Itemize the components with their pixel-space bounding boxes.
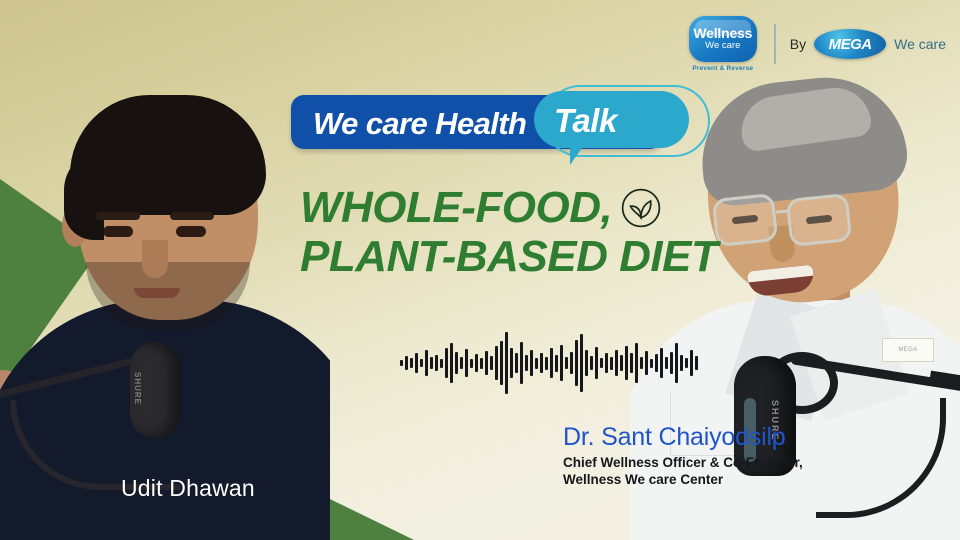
badge-label: MEGA: [883, 347, 933, 353]
episode-headline: WHOLE-FOOD, PLANT-BASED DIET: [300, 183, 717, 282]
waveform-bar: [640, 357, 643, 369]
waveform-bar: [440, 359, 443, 368]
waveform-bar: [465, 349, 468, 377]
waveform-bar: [635, 343, 638, 383]
show-title-banner: We care Health Talk: [291, 91, 705, 152]
wellness-shield-icon: Wellness We care: [689, 16, 757, 62]
waveform-bar: [490, 356, 493, 370]
waveform-bar: [625, 346, 628, 380]
waveform-bar: [530, 350, 533, 376]
left-speaker-eye-right: [176, 226, 206, 237]
waveform-bar: [415, 353, 418, 373]
waveform-bar: [695, 356, 698, 370]
waveform-bar: [455, 352, 458, 374]
waveform-bar: [405, 356, 408, 370]
left-speaker-mouth: [134, 288, 180, 298]
waveform-bar: [475, 354, 478, 372]
waveform-bar: [610, 357, 613, 370]
waveform-bar: [580, 334, 583, 392]
waveform-bar: [605, 353, 608, 373]
headline-line-2: PLANT-BASED DIET: [300, 232, 717, 281]
waveform-bar: [655, 354, 658, 372]
waveform-bar: [545, 357, 548, 370]
waveform-bar: [500, 341, 503, 385]
waveform-bar: [445, 348, 448, 378]
waveform-bar: [595, 347, 598, 379]
waveform-bar: [410, 358, 413, 368]
waveform-bar: [540, 353, 543, 373]
waveform-bar: [555, 355, 558, 372]
brand-header: Wellness We care Prevent & Reverse By ME…: [686, 16, 946, 72]
headline-line-1: WHOLE-FOOD,: [300, 183, 612, 232]
left-speaker-nose: [142, 240, 168, 278]
right-speaker-caption: Dr. Sant Chaiyodsilp Chief Wellness Offi…: [563, 423, 803, 489]
waveform-bar: [450, 343, 453, 383]
left-speaker-eyebrow-right: [170, 212, 214, 220]
wellness-we-care-logo[interactable]: Wellness We care Prevent & Reverse: [686, 16, 760, 72]
waveform-bar: [685, 358, 688, 368]
waveform-bar: [660, 348, 663, 378]
waveform-bar: [535, 358, 538, 369]
left-speaker-eye-left: [103, 226, 133, 237]
left-speaker-eyebrow-left: [96, 212, 140, 220]
waveform-bar: [420, 359, 423, 367]
right-speaker-role: Chief Wellness Officer & Co-Founder, Wel…: [563, 455, 803, 489]
mega-logo-icon: MEGA: [814, 29, 886, 59]
left-speaker-name: Udit Dhawan: [121, 475, 255, 502]
wellness-logo-line2: We care: [705, 40, 740, 52]
header-divider: [774, 24, 776, 64]
banner-bubble-text: Talk: [554, 102, 617, 140]
waveform-bar: [505, 332, 508, 394]
right-speaker-name-badge: MEGA: [882, 338, 934, 362]
waveform-bar: [600, 358, 603, 368]
waveform-bar: [560, 345, 563, 381]
right-speaker-eyeglass-left: [712, 193, 779, 247]
waveform-bar: [470, 359, 473, 368]
waveform-bar: [575, 340, 578, 386]
waveform-bar: [630, 353, 633, 373]
waveform-bar: [620, 355, 623, 371]
waveform-bar: [680, 355, 683, 371]
waveform-bar: [425, 350, 428, 376]
waveform-bar: [460, 357, 463, 369]
mega-brand-row[interactable]: By MEGA We care: [790, 29, 946, 59]
waveform-bar: [565, 357, 568, 369]
waveform-bar: [590, 356, 593, 370]
leaf-icon: [620, 187, 662, 229]
waveform-bar: [435, 355, 438, 371]
waveform-bar: [690, 350, 693, 376]
waveform-bar: [570, 352, 573, 374]
waveform-bar: [485, 351, 488, 375]
audio-waveform: [400, 338, 698, 388]
waveform-bar: [480, 358, 483, 369]
wellness-logo-tagline: Prevent & Reverse: [686, 65, 760, 72]
waveform-bar: [430, 357, 433, 369]
left-speaker-photo: SHURE: [0, 0, 330, 540]
wellness-logo-line1: Wellness: [693, 26, 752, 40]
waveform-bar: [400, 360, 403, 366]
mega-we-care-label: We care: [894, 36, 946, 52]
waveform-bar: [550, 348, 553, 378]
left-microphone-brand: SHURE: [133, 372, 142, 405]
health-talk-thumbnail: SHURE MEGA SHURE Wellne: [0, 0, 960, 540]
banner-main-text: We care Health: [313, 106, 526, 142]
waveform-bar: [510, 348, 513, 378]
waveform-bar: [520, 342, 523, 384]
waveform-bar: [665, 357, 668, 369]
by-label: By: [790, 36, 806, 52]
waveform-bar: [525, 355, 528, 371]
waveform-bar: [615, 350, 618, 376]
waveform-bar: [495, 346, 498, 380]
waveform-bar: [670, 352, 673, 374]
waveform-bar: [645, 351, 648, 375]
waveform-bar: [650, 359, 653, 368]
right-speaker-eyeglass-right: [786, 193, 853, 247]
waveform-bar: [585, 350, 588, 376]
waveform-bar: [675, 343, 678, 383]
right-speaker-name: Dr. Sant Chaiyodsilp: [563, 423, 803, 452]
waveform-bar: [515, 353, 518, 373]
mega-label: MEGA: [829, 36, 872, 53]
